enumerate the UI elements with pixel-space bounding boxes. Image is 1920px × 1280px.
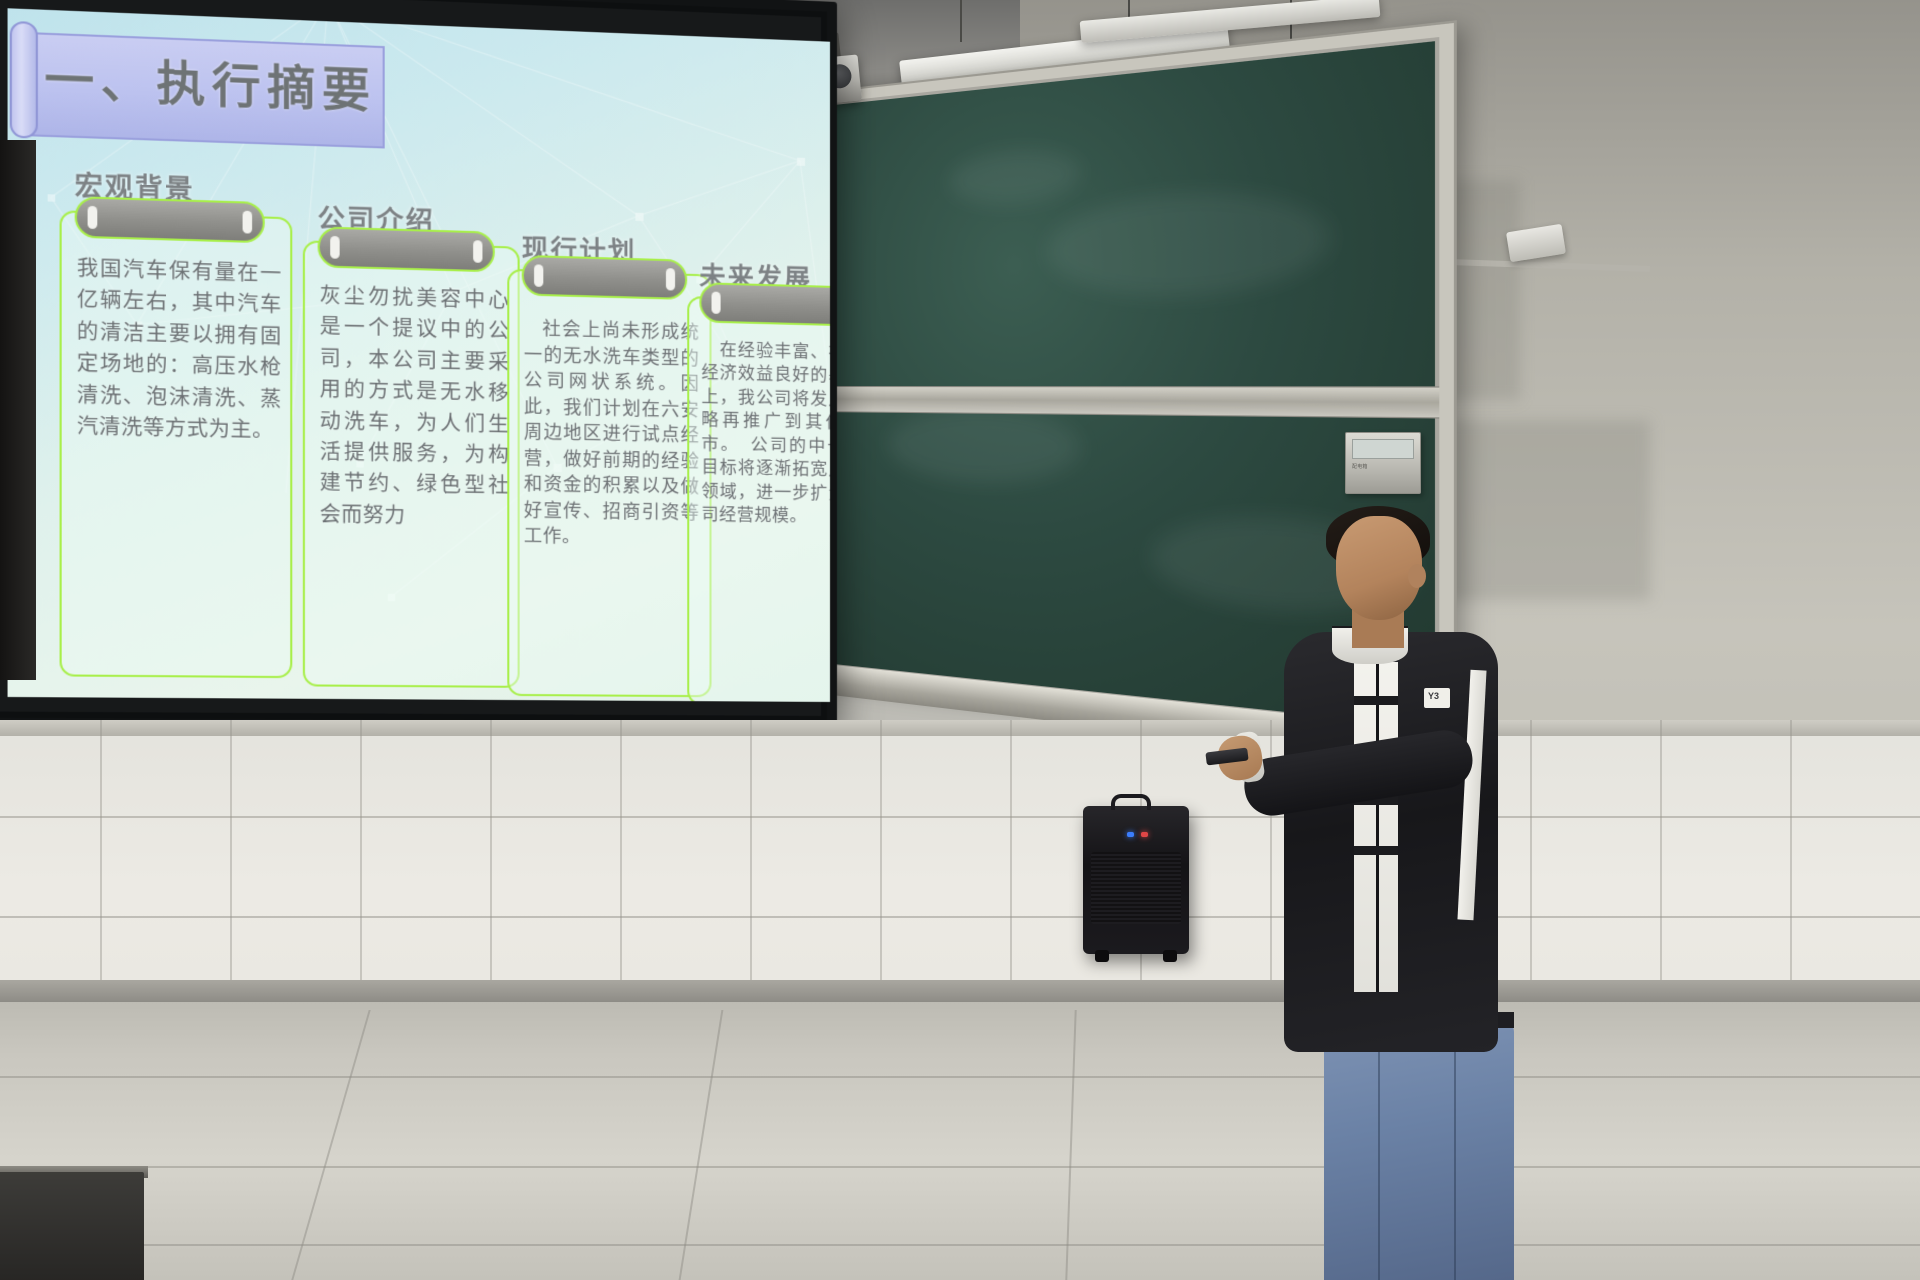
cabinet xyxy=(0,1172,144,1280)
pill-dot xyxy=(534,264,543,287)
column-body-2: 灰尘勿扰美容中心是一个提议中的公司，本公司主要采用的方式是无水移动洗车，为人们生… xyxy=(320,280,510,533)
presenter: Y3 xyxy=(1228,500,1648,1280)
column-body-3: 社会上尚未形成统一的无水洗车类型的公司网状系统。因此，我们计划在六安周边地区进行… xyxy=(524,316,700,552)
pill-dot xyxy=(243,211,253,234)
speaker-led-red xyxy=(1141,832,1148,837)
hanging-wire xyxy=(960,0,962,42)
presenter-jeans xyxy=(1324,1018,1514,1280)
pill-dot xyxy=(330,236,339,259)
jacket-stripe xyxy=(1354,696,1398,705)
presenter-ear xyxy=(1408,564,1426,588)
pill-dot xyxy=(88,206,98,229)
speaker-handle xyxy=(1111,794,1151,810)
slide-title: 一、执行摘要 xyxy=(44,41,395,122)
pill-dot xyxy=(712,292,721,314)
column-body-4: 在经验丰富、社会经济效益良好的基础上，我公司将发展战略再推广到其他省市。 公司的… xyxy=(701,339,830,530)
speaker-led-blue xyxy=(1127,832,1134,837)
electric-box-label: 配电箱 xyxy=(1352,463,1368,470)
left-wall-shadow xyxy=(0,140,36,680)
column-pill-1 xyxy=(75,196,265,243)
projection-screen: 一、执行摘要 宏观背景 我国汽车保有量在一亿辆左右，其中汽车的清洁主要以拥有固定… xyxy=(0,0,837,732)
electric-box: 配电箱 xyxy=(1345,432,1421,494)
column-pill-4 xyxy=(699,282,830,326)
column-body-1: 我国汽车保有量在一亿辆左右，其中汽车的清洁主要以拥有固定场地的：高压水枪清洗、泡… xyxy=(77,252,282,445)
pill-dot xyxy=(473,240,482,263)
column-pill-3 xyxy=(522,255,688,300)
speaker-wheel xyxy=(1163,950,1177,962)
column-pill-2 xyxy=(318,226,495,272)
portable-speaker xyxy=(1083,806,1189,954)
electric-box-window xyxy=(1352,439,1414,459)
scroll-roll-decoration xyxy=(10,21,38,139)
pill-dot xyxy=(666,268,675,290)
jacket-tag-label: Y3 xyxy=(1428,691,1439,701)
speaker-grill xyxy=(1091,852,1181,924)
jacket-stripe xyxy=(1354,846,1398,855)
classroom-scene: 配电箱 THREELEAVES xyxy=(0,0,1920,1280)
speaker-wheel xyxy=(1095,950,1109,962)
slide-canvas: 一、执行摘要 宏观背景 我国汽车保有量在一亿辆左右，其中汽车的清洁主要以拥有固定… xyxy=(8,8,830,702)
